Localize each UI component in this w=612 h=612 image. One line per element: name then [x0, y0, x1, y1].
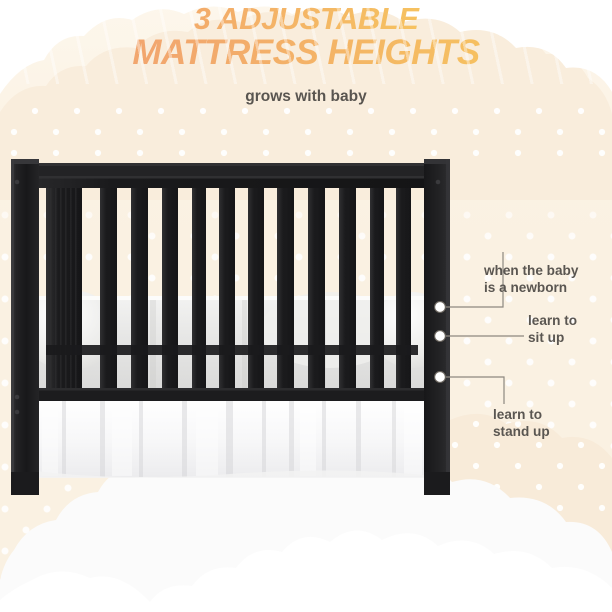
subtitle: grows with baby: [0, 88, 612, 106]
callout-label-sit-up: learn to sit up: [528, 313, 577, 346]
callout-label-newborn: when the baby is a newborn: [484, 263, 578, 296]
callout-label-stand-up: learn to stand up: [493, 407, 550, 440]
product-infographic: 3 ADJUSTABLE MATTRESS HEIGHTS grows with…: [0, 0, 612, 612]
